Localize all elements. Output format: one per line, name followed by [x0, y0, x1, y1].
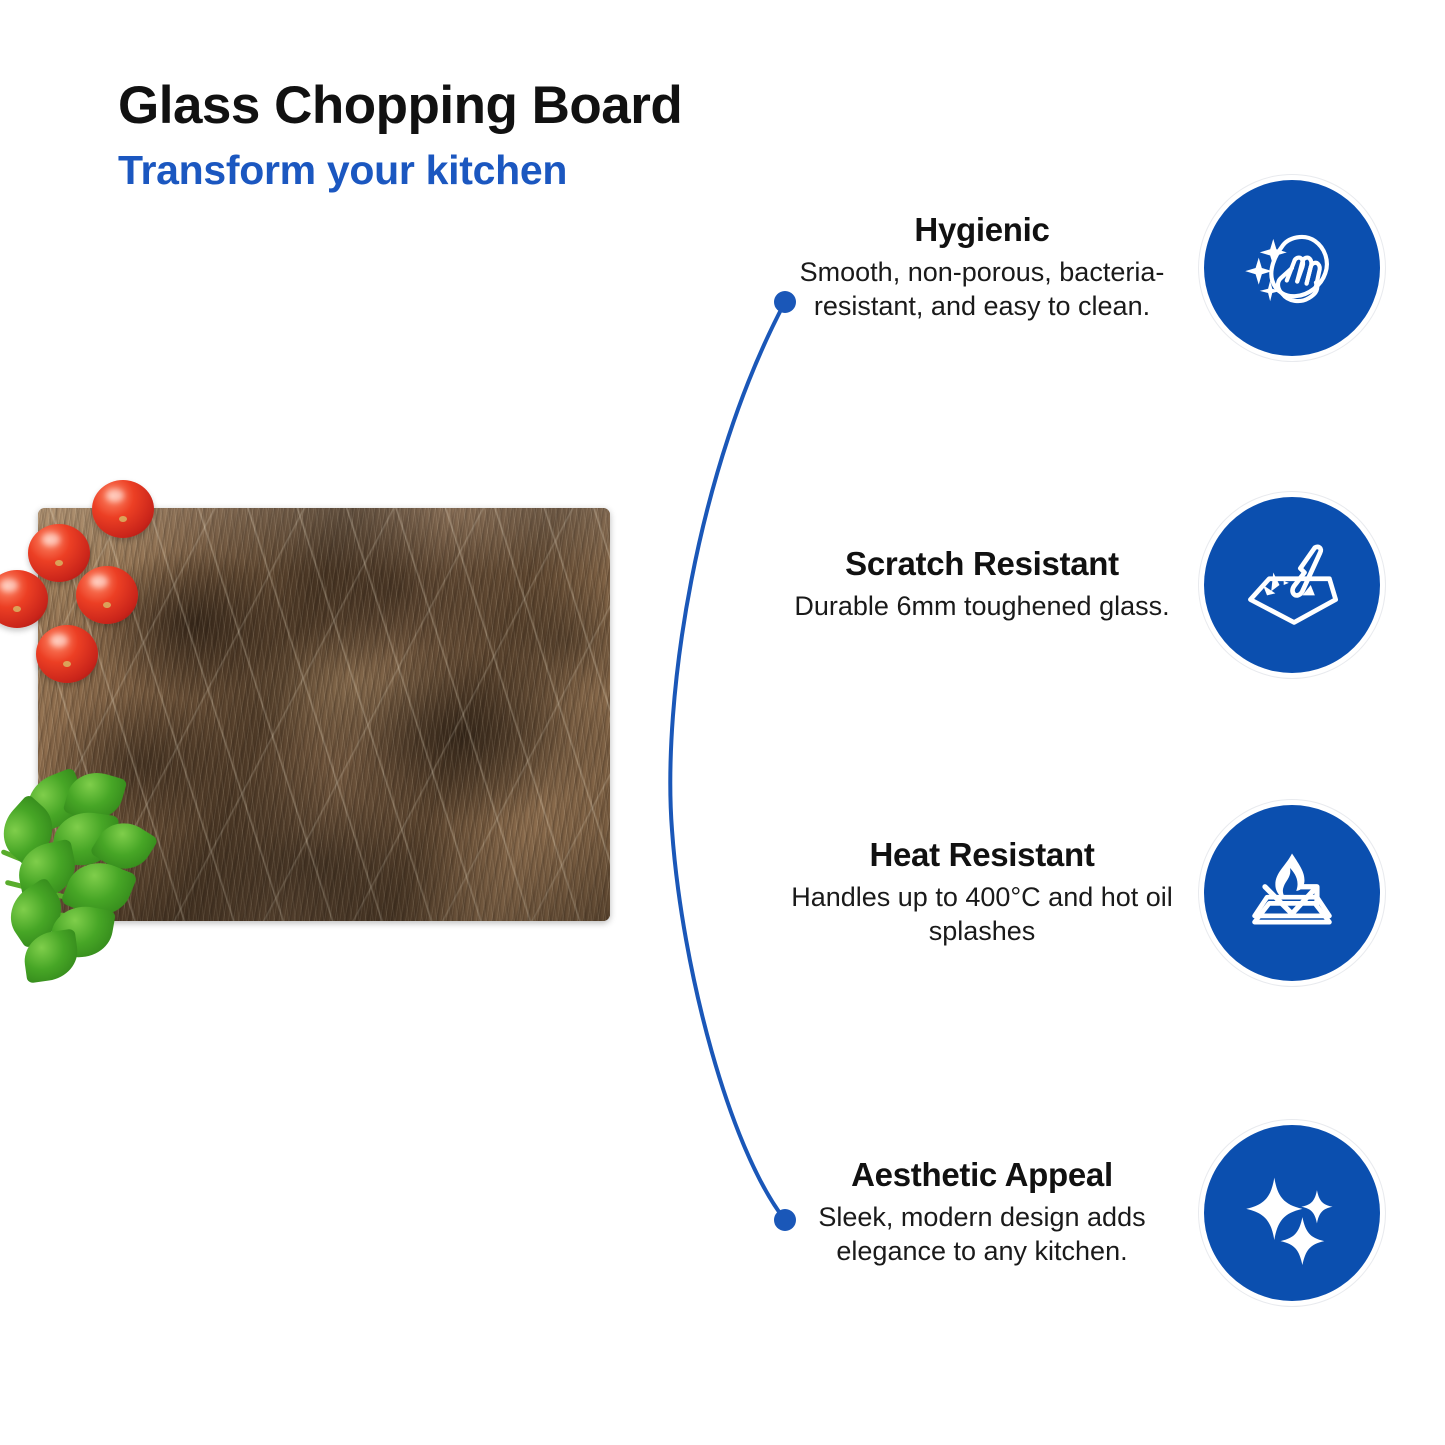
connector-path — [670, 302, 785, 1220]
cherry-tomato — [76, 566, 138, 624]
page-title: Glass Chopping Board — [118, 78, 878, 134]
feature-icon-badge — [1204, 497, 1380, 673]
page-subtitle: Transform your kitchen — [118, 148, 878, 193]
feature-icon-badge — [1204, 1125, 1380, 1301]
feature-scratch-resistant: Scratch Resistant Durable 6mm toughened … — [780, 497, 1380, 673]
tomato-stem-nub — [13, 606, 21, 612]
tomato-stem-nub — [119, 516, 127, 522]
feature-text-block: Aesthetic Appeal Sleek, modern design ad… — [780, 1157, 1174, 1269]
tomato-stem-nub — [103, 602, 111, 608]
product-image — [0, 440, 660, 1000]
feature-title: Aesthetic Appeal — [790, 1157, 1174, 1194]
cherry-tomato — [92, 480, 154, 538]
feature-aesthetic-appeal: Aesthetic Appeal Sleek, modern design ad… — [780, 1125, 1380, 1301]
feature-title: Heat Resistant — [790, 837, 1174, 874]
feature-text-block: Heat Resistant Handles up to 400°C and h… — [780, 837, 1174, 949]
tomato-stem-nub — [63, 661, 71, 667]
feature-description: Durable 6mm toughened glass. — [790, 589, 1174, 624]
cherry-tomato — [36, 625, 98, 683]
header: Glass Chopping Board Transform your kitc… — [118, 78, 878, 193]
feature-hygienic: Hygienic Smooth, non-porous, bacteria-re… — [780, 180, 1380, 356]
feature-heat-resistant: Heat Resistant Handles up to 400°C and h… — [780, 805, 1380, 981]
feature-description: Smooth, non-porous, bacteria-resistant, … — [790, 255, 1174, 324]
feature-description: Sleek, modern design adds elegance to an… — [790, 1200, 1174, 1269]
feature-description: Handles up to 400°C and hot oil splashes — [790, 880, 1174, 949]
feature-icon-badge — [1204, 180, 1380, 356]
parsley-garnish — [0, 770, 184, 985]
feature-title: Hygienic — [790, 212, 1174, 249]
infographic-page: Glass Chopping Board Transform your kitc… — [0, 0, 1445, 1445]
flame-deflect-arrow-icon — [1240, 841, 1344, 945]
hand-wiping-sparkle-icon — [1240, 216, 1344, 320]
cherry-tomato — [28, 524, 90, 582]
tomato-stem-nub — [55, 560, 63, 566]
three-sparkles-icon — [1240, 1161, 1344, 1265]
feature-icon-badge — [1204, 805, 1380, 981]
feature-text-block: Scratch Resistant Durable 6mm toughened … — [780, 546, 1174, 624]
feature-title: Scratch Resistant — [790, 546, 1174, 583]
feature-text-block: Hygienic Smooth, non-porous, bacteria-re… — [780, 212, 1174, 324]
knife-impact-surface-icon — [1240, 533, 1344, 637]
